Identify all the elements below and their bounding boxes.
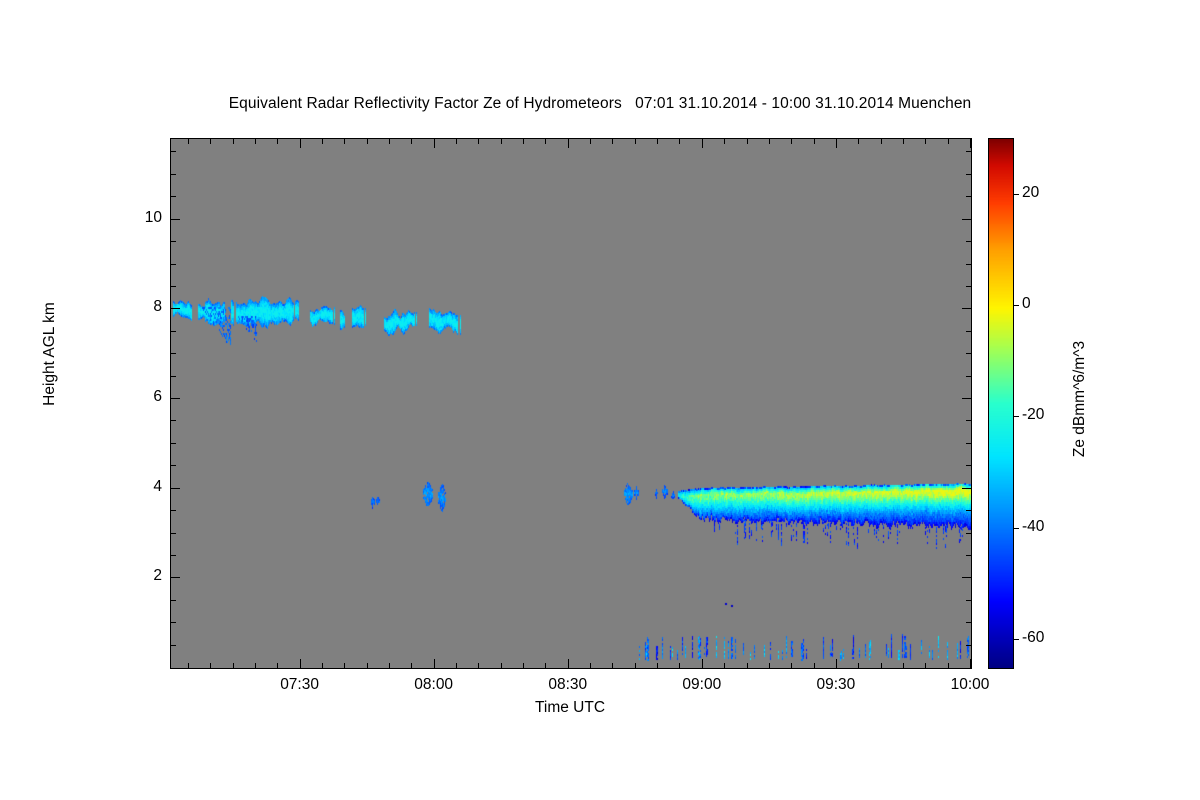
x-minor-tick-top	[210, 139, 211, 144]
y-minor-tick-right	[966, 600, 971, 601]
colorbar	[988, 138, 1014, 669]
y-major-tick-right	[962, 488, 971, 489]
y-major-tick	[171, 577, 180, 578]
colorbar-tick-label: 20	[1022, 184, 1039, 202]
y-minor-tick-right	[966, 264, 971, 265]
y-minor-tick	[171, 533, 176, 534]
y-major-tick	[171, 308, 180, 309]
y-minor-tick-right	[966, 443, 971, 444]
y-minor-tick-right	[966, 645, 971, 646]
x-tick-label: 09:30	[776, 676, 896, 694]
x-minor-tick-top	[501, 139, 502, 144]
x-minor-tick-top	[769, 139, 770, 144]
x-major-tick-top	[970, 139, 971, 148]
y-minor-tick	[171, 420, 176, 421]
radar-heatmap-plot	[170, 138, 972, 669]
x-minor-tick-top	[612, 139, 613, 144]
x-minor-tick	[881, 663, 882, 668]
y-minor-tick-right	[966, 622, 971, 623]
heatmap-canvas	[171, 139, 971, 668]
y-minor-tick	[171, 353, 176, 354]
y-major-tick-right	[962, 308, 971, 309]
y-minor-tick	[171, 645, 176, 646]
x-major-tick-top	[836, 139, 837, 148]
x-minor-tick-top	[590, 139, 591, 144]
x-major-tick	[434, 659, 435, 668]
y-major-tick-right	[962, 398, 971, 399]
y-minor-tick	[171, 196, 176, 197]
y-minor-tick-right	[966, 286, 971, 287]
x-minor-tick	[635, 663, 636, 668]
y-minor-tick-right	[966, 196, 971, 197]
y-minor-tick-right	[966, 241, 971, 242]
x-minor-tick	[814, 663, 815, 668]
colorbar-tick-label: -20	[1022, 406, 1044, 424]
x-minor-tick	[389, 663, 390, 668]
x-minor-tick	[322, 663, 323, 668]
x-major-tick	[836, 659, 837, 668]
x-minor-tick-top	[322, 139, 323, 144]
colorbar-tick	[1013, 528, 1019, 529]
x-major-tick	[702, 659, 703, 668]
x-minor-tick	[545, 663, 546, 668]
y-minor-tick	[171, 465, 176, 466]
x-minor-tick-top	[903, 139, 904, 144]
colorbar-tick	[1013, 194, 1019, 195]
y-minor-tick-right	[966, 353, 971, 354]
y-tick-label: 2	[102, 567, 162, 585]
x-tick-label: 10:00	[910, 676, 1030, 694]
colorbar-tick-label: -60	[1022, 629, 1044, 647]
colorbar-title: Ze dBmm^6/m^3	[1071, 284, 1089, 514]
y-minor-tick	[171, 241, 176, 242]
x-minor-tick-top	[679, 139, 680, 144]
x-minor-tick	[478, 663, 479, 668]
y-axis-title: Height AGL km	[41, 244, 59, 464]
x-minor-tick-top	[635, 139, 636, 144]
x-minor-tick-top	[881, 139, 882, 144]
x-minor-tick	[411, 663, 412, 668]
x-major-tick-top	[568, 139, 569, 148]
x-minor-tick	[925, 663, 926, 668]
x-minor-tick	[277, 663, 278, 668]
y-minor-tick	[171, 151, 176, 152]
x-major-tick	[568, 659, 569, 668]
x-tick-label: 09:00	[642, 676, 762, 694]
x-minor-tick	[769, 663, 770, 668]
y-major-tick-right	[962, 577, 971, 578]
x-minor-tick-top	[948, 139, 949, 144]
y-minor-tick-right	[966, 420, 971, 421]
x-minor-tick	[255, 663, 256, 668]
x-minor-tick-top	[233, 139, 234, 144]
x-minor-tick-top	[478, 139, 479, 144]
y-minor-tick	[171, 331, 176, 332]
y-minor-tick-right	[966, 533, 971, 534]
colorbar-tick	[1013, 305, 1019, 306]
y-minor-tick	[171, 376, 176, 377]
x-minor-tick-top	[255, 139, 256, 144]
x-minor-tick	[590, 663, 591, 668]
x-major-tick-top	[434, 139, 435, 148]
x-minor-tick-top	[724, 139, 725, 144]
colorbar-tick-label: -40	[1022, 518, 1044, 536]
y-minor-tick-right	[966, 376, 971, 377]
x-axis-title: Time UTC	[170, 699, 970, 717]
y-tick-label: 10	[102, 209, 162, 227]
y-tick-label: 4	[102, 478, 162, 496]
page-title: Equivalent Radar Reflectivity Factor Ze …	[0, 95, 1200, 113]
x-minor-tick	[456, 663, 457, 668]
x-major-tick-top	[300, 139, 301, 148]
colorbar-tick	[1013, 639, 1019, 640]
x-minor-tick-top	[188, 139, 189, 144]
y-minor-tick	[171, 174, 176, 175]
x-minor-tick-top	[456, 139, 457, 144]
x-minor-tick	[724, 663, 725, 668]
y-minor-tick	[171, 510, 176, 511]
x-minor-tick-top	[791, 139, 792, 144]
x-minor-tick	[679, 663, 680, 668]
x-minor-tick	[903, 663, 904, 668]
x-minor-tick-top	[925, 139, 926, 144]
x-minor-tick-top	[277, 139, 278, 144]
y-minor-tick	[171, 286, 176, 287]
x-minor-tick-top	[389, 139, 390, 144]
x-minor-tick-top	[814, 139, 815, 144]
x-major-tick	[300, 659, 301, 668]
x-minor-tick	[948, 663, 949, 668]
x-major-tick-top	[702, 139, 703, 148]
x-minor-tick	[367, 663, 368, 668]
y-minor-tick	[171, 600, 176, 601]
colorbar-tick	[1013, 416, 1019, 417]
y-minor-tick-right	[966, 151, 971, 152]
y-major-tick	[171, 398, 180, 399]
x-tick-label: 08:00	[374, 676, 494, 694]
x-minor-tick	[657, 663, 658, 668]
y-tick-label: 6	[102, 388, 162, 406]
y-minor-tick-right	[966, 174, 971, 175]
y-major-tick	[171, 219, 180, 220]
y-major-tick-right	[962, 219, 971, 220]
y-minor-tick-right	[966, 331, 971, 332]
y-minor-tick	[171, 264, 176, 265]
colorbar-tick-label: 0	[1022, 295, 1031, 313]
x-minor-tick	[791, 663, 792, 668]
y-major-tick	[171, 488, 180, 489]
x-minor-tick-top	[545, 139, 546, 144]
x-major-tick	[970, 659, 971, 668]
x-minor-tick	[188, 663, 189, 668]
x-minor-tick	[210, 663, 211, 668]
y-minor-tick	[171, 622, 176, 623]
x-minor-tick	[344, 663, 345, 668]
x-minor-tick-top	[523, 139, 524, 144]
x-tick-label: 08:30	[508, 676, 628, 694]
x-minor-tick-top	[411, 139, 412, 144]
y-minor-tick-right	[966, 555, 971, 556]
x-minor-tick	[233, 663, 234, 668]
y-minor-tick	[171, 555, 176, 556]
x-minor-tick-top	[858, 139, 859, 144]
colorbar-gradient	[989, 139, 1013, 668]
y-minor-tick-right	[966, 465, 971, 466]
x-minor-tick	[858, 663, 859, 668]
x-tick-label: 07:30	[240, 676, 360, 694]
x-minor-tick	[612, 663, 613, 668]
x-minor-tick-top	[657, 139, 658, 144]
x-minor-tick	[501, 663, 502, 668]
x-minor-tick	[747, 663, 748, 668]
y-tick-label: 8	[102, 298, 162, 316]
y-minor-tick	[171, 443, 176, 444]
x-minor-tick-top	[747, 139, 748, 144]
x-minor-tick	[523, 663, 524, 668]
x-minor-tick-top	[344, 139, 345, 144]
x-minor-tick-top	[367, 139, 368, 144]
y-minor-tick-right	[966, 510, 971, 511]
